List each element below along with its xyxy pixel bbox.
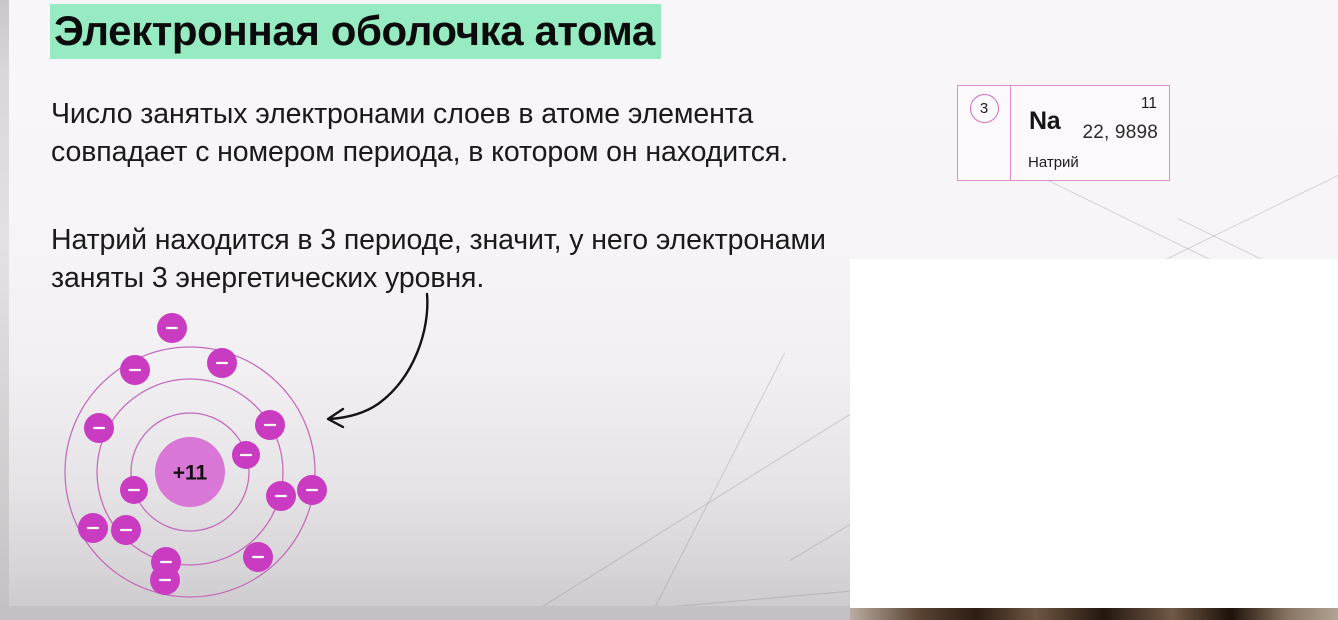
periodic-element-card: 3 11 Na 22, 9898 Натрий [957, 85, 1170, 181]
paragraph-rule: Число занятых электронами слоев в атоме … [51, 95, 788, 171]
element-name: Натрий [1028, 154, 1079, 171]
page-title-text: Электронная оболочка атома [50, 4, 661, 59]
element-card-info-cell: 11 Na 22, 9898 Натрий [1011, 86, 1169, 180]
electron [207, 348, 237, 378]
nucleus-charge-label: +11 [173, 462, 208, 485]
electron [255, 410, 285, 440]
electron [243, 542, 273, 572]
electron [150, 565, 180, 595]
period-number-badge: 3 [970, 94, 999, 123]
element-atomic-number: 11 [1141, 95, 1157, 113]
electron [266, 481, 296, 511]
paragraph-example-line-1: Натрий находится в 3 периоде, значит, у … [51, 221, 826, 259]
paragraph-rule-line-1: Число занятых электронами слоев в атоме … [51, 95, 788, 133]
pointer-arrow [310, 288, 455, 433]
electron [84, 413, 114, 443]
electron [297, 475, 327, 505]
electron [157, 313, 187, 343]
video-thumbnail-strip[interactable] [850, 608, 1338, 620]
atom-shell-diagram: +11 [40, 300, 340, 600]
electron [120, 355, 150, 385]
electron [78, 513, 108, 543]
slide-left-edge [0, 0, 9, 620]
page-title: Электронная оболочка атома [50, 4, 661, 59]
element-symbol: Na [1029, 107, 1060, 136]
paragraph-example: Натрий находится в 3 периоде, значит, у … [51, 221, 826, 297]
electron [111, 515, 141, 545]
paragraph-rule-line-2: совпадает с номером периода, в котором о… [51, 133, 788, 171]
atom-nucleus: +11 [155, 437, 225, 507]
electron [120, 476, 148, 504]
electron [232, 441, 260, 469]
presentation-slide: Электронная оболочка атома Число занятых… [0, 0, 1338, 620]
arrow-curve [330, 294, 427, 419]
element-card-period-cell: 3 [958, 86, 1011, 180]
video-overlay-panel[interactable] [850, 259, 1338, 608]
element-atomic-mass: 22, 9898 [1082, 122, 1158, 144]
